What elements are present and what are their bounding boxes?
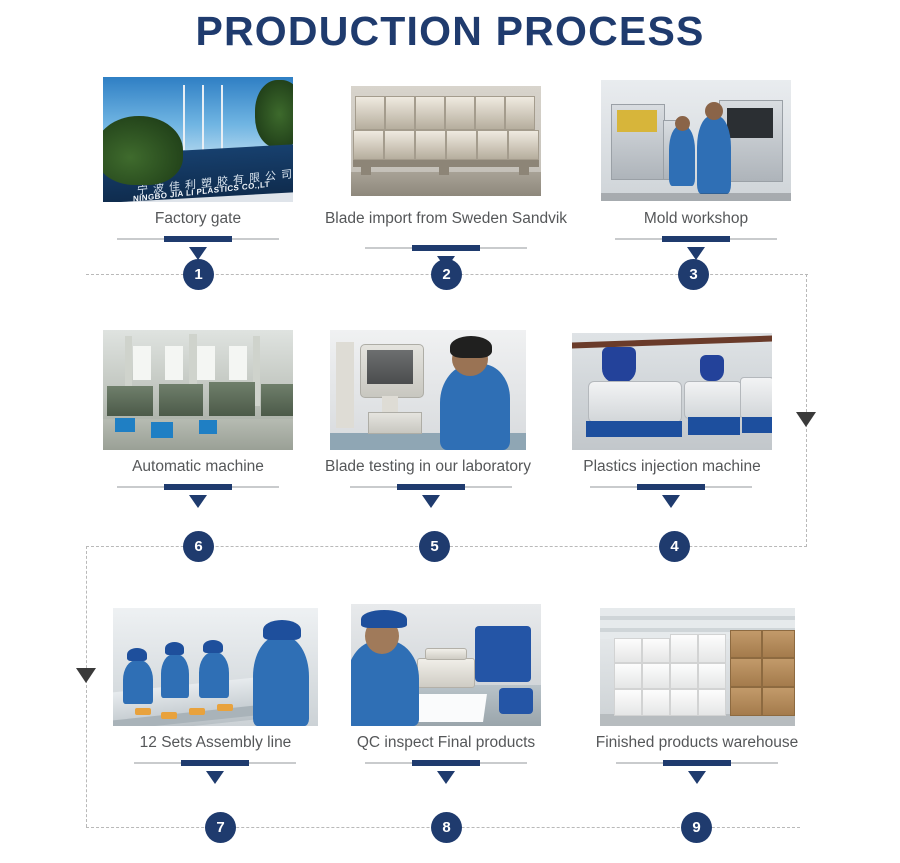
step-caption-9: Finished products warehouse <box>577 734 817 752</box>
arrow-right-down-icon <box>796 412 816 427</box>
step-card-9[interactable]: Finished products warehouse <box>600 608 795 820</box>
brown-carton <box>730 630 762 658</box>
tree <box>255 80 293 149</box>
blue-bin <box>199 420 217 434</box>
arrow-left-down-icon <box>76 668 96 683</box>
white-carton <box>614 689 642 716</box>
brown-carton <box>730 658 762 687</box>
step-rule-1 <box>117 238 279 240</box>
step-rule-9 <box>616 762 778 764</box>
step-number-2[interactable]: 2 <box>431 259 462 290</box>
step-rule-4 <box>590 486 752 488</box>
step-number-7[interactable]: 7 <box>205 812 236 843</box>
injection-machine-body <box>740 377 772 419</box>
instrument-column <box>336 342 354 428</box>
control-box <box>368 412 422 434</box>
brown-carton <box>762 658 795 687</box>
connector-left-vertical <box>86 546 87 827</box>
worker <box>161 654 189 698</box>
product-item <box>189 708 205 715</box>
step-rule-2 <box>365 247 527 249</box>
blue-bin <box>115 418 135 432</box>
step-rule-highlight <box>164 484 232 490</box>
worker <box>123 660 153 704</box>
pallet <box>353 160 539 167</box>
step-rule-3 <box>615 238 777 240</box>
automatic-machine-photo <box>103 330 293 450</box>
qc-inspect-photo <box>351 604 541 726</box>
product-item <box>217 704 233 711</box>
pallet <box>439 167 449 175</box>
flag-pole-icon <box>202 85 204 150</box>
window <box>197 346 215 380</box>
step-caption-6: Automatic machine <box>103 458 293 476</box>
worker-head <box>675 116 690 131</box>
carton-stack-top <box>355 96 535 130</box>
step-rule-highlight <box>181 760 249 766</box>
step-rule-highlight <box>397 484 465 490</box>
worker-cap <box>127 648 147 661</box>
monitor-neck <box>382 396 398 412</box>
brown-carton <box>730 687 762 716</box>
white-carton <box>698 663 726 689</box>
injection-machine-body <box>684 381 742 419</box>
step-rule-highlight <box>637 484 705 490</box>
white-carton <box>614 638 642 663</box>
pallet <box>361 167 371 175</box>
product-item <box>135 708 151 715</box>
worker-cap <box>165 642 184 655</box>
blue-bin <box>151 422 173 438</box>
step-card-6[interactable]: Automatic machine <box>103 330 293 543</box>
step-number-3[interactable]: 3 <box>678 259 709 290</box>
inspector-cap <box>361 610 407 628</box>
step-card-7[interactable]: 12 Sets Assembly line <box>113 608 318 820</box>
carton-stack-middle <box>353 130 539 160</box>
worker-cap <box>263 620 301 640</box>
machine <box>159 384 203 416</box>
plastics-injection-machine-photo <box>572 333 772 450</box>
step-number-1[interactable]: 1 <box>183 259 214 290</box>
window <box>229 346 247 380</box>
weighing-scale <box>417 658 475 688</box>
step-arrow-9-icon <box>688 771 706 784</box>
machine-panel <box>617 110 657 132</box>
worker-head <box>705 102 723 120</box>
white-carton <box>670 663 698 689</box>
finished-products-warehouse-photo <box>600 608 795 726</box>
machine-base <box>688 417 740 435</box>
step-caption-1: Factory gate <box>103 210 293 228</box>
blade-import-cartons-photo <box>351 86 541 196</box>
step-caption-7: 12 Sets Assembly line <box>108 734 323 752</box>
product-pile <box>499 688 533 714</box>
floor-shadow <box>601 193 791 201</box>
step-number-9[interactable]: 9 <box>681 812 712 843</box>
step-rule-highlight <box>412 245 480 251</box>
white-carton <box>642 638 670 663</box>
machine <box>107 386 153 416</box>
window <box>165 346 183 380</box>
step-rule-highlight <box>663 760 731 766</box>
flag-pole-icon <box>183 85 185 150</box>
step-arrow-5-icon <box>422 495 440 508</box>
inspection-paper <box>411 694 487 722</box>
mold-workshop-photo <box>601 80 791 201</box>
white-carton <box>642 689 670 716</box>
product-pile <box>475 626 531 682</box>
step-rule-5 <box>350 486 512 488</box>
step-card-4[interactable]: Plastics injection machine <box>572 333 772 543</box>
step-rule-highlight <box>164 236 232 242</box>
brown-carton <box>762 687 795 716</box>
step-arrow-4-icon <box>662 495 680 508</box>
assembly-line-photo <box>113 608 318 726</box>
machine-base <box>742 417 772 433</box>
step-card-5[interactable]: Blade testing in our laboratory <box>330 330 526 543</box>
step-caption-8: QC inspect Final products <box>338 734 554 752</box>
step-arrow-6-icon <box>189 495 207 508</box>
step-arrow-7-icon <box>206 771 224 784</box>
white-carton <box>698 689 726 716</box>
blue-hopper <box>602 347 636 383</box>
worker-right <box>697 116 731 194</box>
step-number-6[interactable]: 6 <box>183 531 214 562</box>
step-arrow-8-icon <box>437 771 455 784</box>
step-number-5[interactable]: 5 <box>419 531 450 562</box>
brown-carton <box>762 630 795 658</box>
pallet <box>519 167 529 175</box>
technician-body <box>440 364 510 450</box>
window <box>133 346 151 380</box>
white-carton <box>670 634 698 663</box>
step-number-8[interactable]: 8 <box>431 812 462 843</box>
worker-cap <box>203 640 223 653</box>
machine <box>261 384 293 416</box>
monitor-screen <box>367 350 413 384</box>
worker-left <box>669 126 695 186</box>
page-title: PRODUCTION PROCESS <box>0 8 900 55</box>
machine-screen <box>727 108 773 138</box>
scale-platform <box>425 648 467 660</box>
step-caption-2: Blade import from Sweden Sandvik <box>291 210 601 228</box>
white-carton <box>670 689 698 716</box>
connector-right-vertical <box>806 274 807 547</box>
production-process-infographic: PRODUCTION PROCESS 宁波佳利塑胶有限公司 NINGBO JIA… <box>0 0 900 863</box>
step-number-4[interactable]: 4 <box>659 531 690 562</box>
bush <box>103 116 183 185</box>
step-rule-8 <box>365 762 527 764</box>
step-caption-3: Mold workshop <box>601 210 791 228</box>
step-arrow-3-icon <box>687 247 705 260</box>
floor <box>351 172 541 196</box>
white-carton <box>642 663 670 689</box>
factory-gate-photo: 宁波佳利塑胶有限公司 NINGBO JIA LI PLASTICS CO.,LT <box>103 77 293 202</box>
worker <box>199 652 229 698</box>
product-item <box>161 712 177 719</box>
machine <box>209 382 255 416</box>
step-rule-6 <box>117 486 279 488</box>
step-rule-7 <box>134 762 296 764</box>
machine-base <box>586 421 682 437</box>
blue-hopper <box>700 355 724 381</box>
step-rule-highlight <box>662 236 730 242</box>
technician-hair <box>450 336 492 358</box>
white-carton <box>614 663 642 689</box>
step-rule-highlight <box>412 760 480 766</box>
step-caption-4: Plastics injection machine <box>569 458 775 476</box>
ceiling-beam <box>600 616 795 620</box>
step-card-8[interactable]: QC inspect Final products <box>351 604 541 820</box>
blade-testing-laboratory-photo <box>330 330 526 450</box>
flag-pole-icon <box>221 85 223 150</box>
step-caption-5: Blade testing in our laboratory <box>310 458 546 476</box>
worker-foreground <box>253 636 309 726</box>
white-carton <box>698 634 726 663</box>
injection-machine-body <box>588 381 682 423</box>
